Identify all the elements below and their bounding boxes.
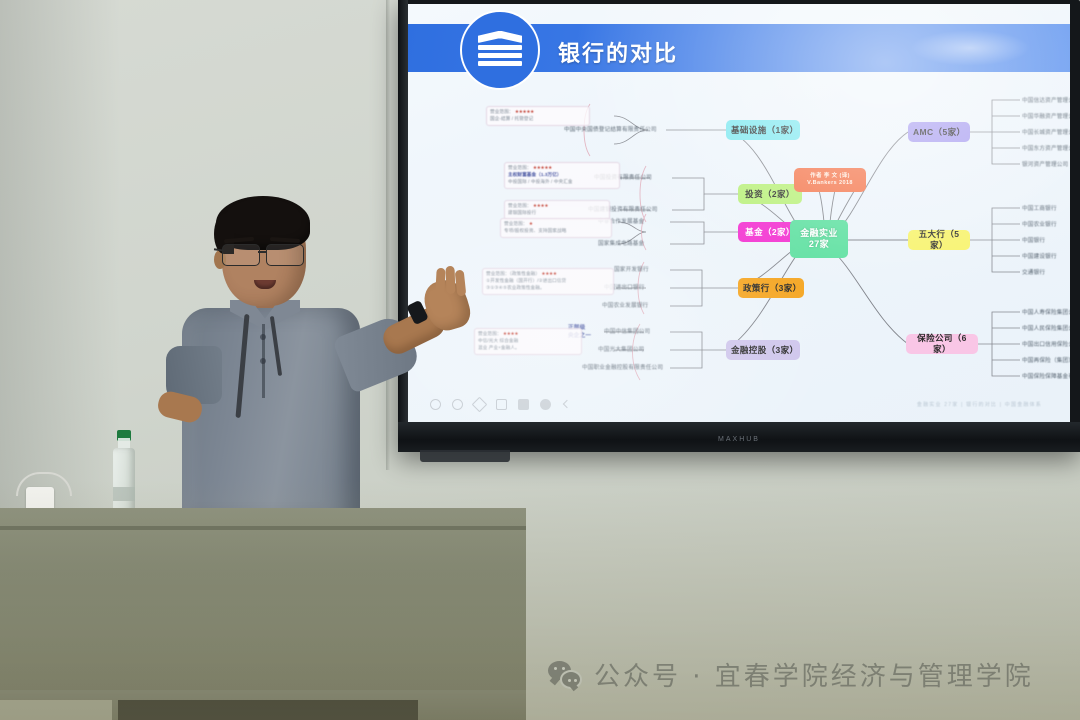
leaf-item: 中国华融资产管理公司 xyxy=(1022,112,1070,120)
leaf-item: 中国农业发展银行 xyxy=(602,301,648,309)
shirt-button xyxy=(260,358,266,364)
interactive-display[interactable]: 银行的对比 xyxy=(398,0,1080,452)
leaf-item: 中国信达资产管理公司 xyxy=(1022,96,1070,104)
leaf-item: 中国再保险（集团）股份有限公司 xyxy=(1022,356,1070,364)
mindmap-node-policy-bank[interactable]: 政策行（3家） xyxy=(738,278,804,298)
mindmap-node-financial-holding[interactable]: 金融控股（3家） xyxy=(726,340,800,360)
annotation-callout: 营业范围：（政策性金融） ★★★★ ①开发性金融（国开行）/②进出口信贷 ③①③… xyxy=(482,268,614,295)
mindmap-node-amc[interactable]: AMC（5家） xyxy=(908,122,970,142)
eyeglasses xyxy=(222,244,310,264)
mindmap-node-insurance[interactable]: 保险公司（6家） xyxy=(906,334,978,354)
shirt-button xyxy=(260,334,266,340)
finger xyxy=(446,266,456,294)
mindmap-node-investment[interactable]: 投资（2家） xyxy=(738,184,802,204)
presenter xyxy=(170,196,470,526)
leaf-item: 中国职业金融控股有限责任公司 xyxy=(582,363,663,371)
display-screen[interactable]: 银行的对比 xyxy=(408,4,1070,422)
leaf-item: 中国出口信用保险公司 xyxy=(1022,340,1070,348)
glasses-bridge xyxy=(258,251,267,253)
leaf-item: 中国银行 xyxy=(1022,236,1045,244)
screen-glare-spot xyxy=(910,30,1030,66)
delete-tool[interactable] xyxy=(540,399,551,410)
leaf-item: 中国人寿保险集团公司 xyxy=(1022,308,1070,316)
lecture-photo-scene: 银行的对比 xyxy=(0,0,1080,720)
collapse-toolbar-icon[interactable] xyxy=(562,401,570,409)
mindmap-node-big-five-banks[interactable]: 五大行（5家） xyxy=(908,230,970,250)
leaf-item: 中国农业银行 xyxy=(1022,220,1057,228)
leaf-item: 中国保险保障基金有限责任公司 xyxy=(1022,372,1070,380)
leaf-item: 中国中信集团公司 xyxy=(604,327,650,335)
leaf-item: 中国工商银行 xyxy=(1022,204,1057,212)
lens xyxy=(266,244,304,266)
annotation-callout: 营业范围： ★★★★★ 国企-结算 / 托管登记 xyxy=(486,106,590,126)
leaf-item: 中国人民保险集团公司 xyxy=(1022,324,1070,332)
annotation-callout: 营业范围： ★★★★ 建银国际投行 xyxy=(504,200,610,220)
watermark: 公众号 · 宜春学院经济与管理学院 xyxy=(548,656,1034,693)
slide-title: 银行的对比 xyxy=(558,36,678,68)
select-frame-tool[interactable] xyxy=(496,399,507,410)
annotation-callout: 营业范围： ★★★★ 中信/光大 综合金融 混业 产业+金融人。 xyxy=(474,328,582,355)
wechat-icon xyxy=(548,661,582,689)
leaf-item: 国家集成电路基金 xyxy=(598,239,644,247)
finger xyxy=(455,270,467,297)
slide-footnote: 金融实业 27家 | 银行的对比 | 中国金融体系 xyxy=(917,401,1042,408)
leaf-item: 中国东方资产管理公司 xyxy=(1022,144,1070,152)
leaf-item: 国家开发银行 xyxy=(614,265,649,273)
pen-tool[interactable] xyxy=(472,397,488,413)
leaf-item: 中国光大集团公司 xyxy=(598,345,644,353)
finger xyxy=(435,268,445,294)
display-bezel-bottom: MAXHUB xyxy=(398,422,1080,452)
leaf-item: 中国中央国债登记结算有限责任公司 xyxy=(564,125,657,133)
watermark-text: 公众号 · 宜春学院经济与管理学院 xyxy=(594,656,1034,693)
leaf-item: 中国长城资产管理公司 xyxy=(1022,128,1070,136)
annotation-callout: 营业范围： ★★★★★ 主权财富基金（1.3万亿） 中投国际 / 中投海外 / … xyxy=(504,162,620,189)
mindmap: 基础设施（1家） 投资（2家） 基金（2家） 政策行（3家） 金融控股（3家） … xyxy=(408,82,1070,382)
annotation-callout: 营业范围： ★ 专项/股权投资、支持国家战略 xyxy=(500,218,612,238)
eraser-tool[interactable] xyxy=(518,399,529,410)
leaf-item: 中国建设银行 xyxy=(1022,252,1057,260)
mindmap-source-node[interactable]: 作者 李 文 (译) V.Bankers 2018 xyxy=(794,168,866,192)
display-brand-label: MAXHUB xyxy=(718,436,760,443)
leaf-item: 银河资产管理公司 xyxy=(1022,160,1068,168)
leaf-item: 交通银行 xyxy=(1022,268,1045,276)
mindmap-node-infrastructure[interactable]: 基础设施（1家） xyxy=(726,120,800,140)
open-book-icon xyxy=(460,10,540,90)
lens xyxy=(222,244,260,266)
mindmap-center-node[interactable]: 金融实业 27家 xyxy=(790,220,848,258)
